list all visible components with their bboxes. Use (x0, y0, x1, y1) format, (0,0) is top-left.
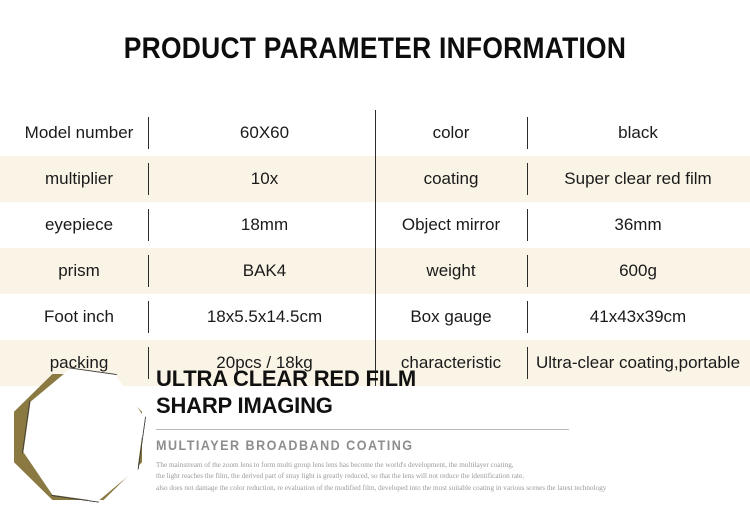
divider (156, 429, 569, 430)
spec-value: 10x (154, 156, 375, 202)
advantage-paragraph-line2: the light reaches the film, the derived … (156, 471, 748, 483)
spec-label: coating (376, 156, 526, 202)
spec-label: weight (376, 248, 526, 294)
spec-label: eyepiece (4, 202, 154, 248)
advantage-heading-line2: SHARP IMAGING (156, 393, 736, 420)
spec-label: multiplier (4, 156, 154, 202)
advantage-heading-line1: ULTRA CLEAR RED FILM (156, 366, 416, 391)
spec-value: Super clear red film (526, 156, 750, 202)
spec-value: 60X60 (154, 110, 375, 156)
advantage-body: ULTRA CLEAR RED FILM SHARP IMAGING MULTI… (156, 366, 736, 495)
spec-half-left: multiplier 10x (0, 156, 375, 202)
spec-label: Model number (4, 110, 154, 156)
spec-label: Box gauge (376, 294, 526, 340)
spec-half-left: prism BAK4 (0, 248, 375, 294)
spec-half-right: Object mirror 36mm (375, 202, 750, 248)
page-title: PRODUCT PARAMETER INFORMATION (45, 32, 705, 66)
spec-value: 18mm (154, 202, 375, 248)
spec-half-left: Foot inch 18x5.5x14.5cm (0, 294, 375, 340)
advantage-paragraph-line3: also does not damage the color reduction… (156, 483, 748, 495)
advantage-subheading: MULTIAYER BROADBAND COATING (156, 438, 695, 453)
spec-half-left: Model number 60X60 (0, 110, 375, 156)
spec-label: prism (4, 248, 154, 294)
spec-value: 36mm (526, 202, 750, 248)
advantage-section: Advantage one ULTRA CLEAR RED FILM SHARP… (0, 358, 750, 511)
table-row: eyepiece 18mm Object mirror 36mm (0, 202, 750, 248)
advantage-paragraph-line1: The mainstream of the zoom lens to form … (156, 460, 748, 472)
spec-value: black (526, 110, 750, 156)
advantage-paragraph: The mainstream of the zoom lens to form … (156, 460, 748, 495)
table-row: multiplier 10x coating Super clear red f… (0, 156, 750, 202)
spec-half-right: weight 600g (375, 248, 750, 294)
spec-half-right: color black (375, 110, 750, 156)
spec-value: 18x5.5x14.5cm (154, 294, 375, 340)
advantage-badge-text: Advantage one (8, 394, 158, 447)
spec-value: BAK4 (154, 248, 375, 294)
spec-table: Model number 60X60 color black multiplie… (0, 110, 750, 386)
spec-half-right: coating Super clear red film (375, 156, 750, 202)
spec-label: Foot inch (4, 294, 154, 340)
advantage-badge-line1: Advantage (41, 397, 124, 416)
spec-half-right: Box gauge 41x43x39cm (375, 294, 750, 340)
table-row: prism BAK4 weight 600g (0, 248, 750, 294)
advantage-badge-line2: one (8, 420, 158, 446)
table-row: Foot inch 18x5.5x14.5cm Box gauge 41x43x… (0, 294, 750, 340)
spec-value: 41x43x39cm (526, 294, 750, 340)
spec-value: 600g (526, 248, 750, 294)
table-row: Model number 60X60 color black (0, 110, 750, 156)
advantage-badge: Advantage one (8, 364, 158, 508)
spec-label: color (376, 110, 526, 156)
advantage-heading: ULTRA CLEAR RED FILM SHARP IMAGING (156, 366, 736, 420)
spec-half-left: eyepiece 18mm (0, 202, 375, 248)
spec-label: Object mirror (376, 202, 526, 248)
